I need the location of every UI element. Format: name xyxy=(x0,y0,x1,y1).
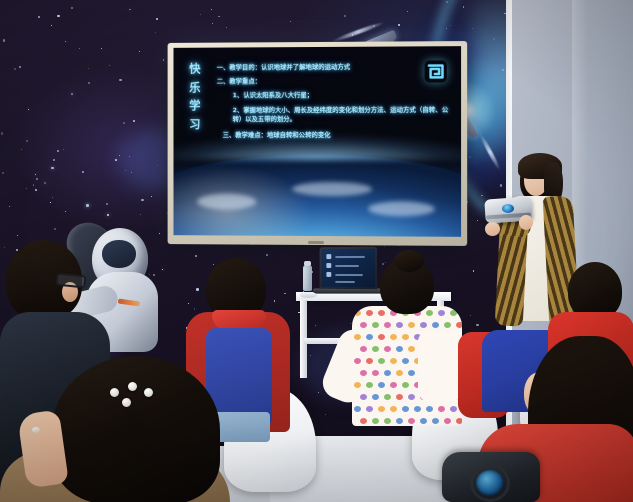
star xyxy=(54,228,56,230)
vertical-title-char-2: 学 xyxy=(189,100,200,111)
star xyxy=(382,263,384,265)
pearl-hairclip-3 xyxy=(144,388,153,397)
fabric-motif xyxy=(402,334,409,340)
girl-hair-bun xyxy=(394,250,424,272)
star xyxy=(71,7,72,8)
star xyxy=(218,16,219,17)
star xyxy=(212,23,213,24)
wall-display[interactable]: 快 乐 学 习 一、教学目的：认识地球并了解地球的运动方式 二、教学重点： 1、… xyxy=(168,41,468,246)
fabric-motif xyxy=(396,346,403,352)
star xyxy=(149,274,150,275)
star xyxy=(477,220,478,221)
star xyxy=(470,315,471,316)
vertical-title-char-3: 习 xyxy=(189,119,200,130)
fabric-motif xyxy=(372,322,379,328)
star xyxy=(9,206,10,207)
fabric-motif xyxy=(450,310,457,316)
star xyxy=(139,51,140,52)
fabric-motif xyxy=(378,358,385,364)
star xyxy=(159,233,160,234)
fabric-motif xyxy=(384,322,391,328)
star xyxy=(51,25,52,26)
fabric-motif xyxy=(354,382,361,388)
star xyxy=(196,288,198,290)
laptop-desktop-label-4 xyxy=(335,281,355,283)
computer-mouse[interactable] xyxy=(300,292,317,298)
fabric-motif xyxy=(378,382,385,388)
pearl-hairclip-1 xyxy=(110,388,119,397)
fabric-motif xyxy=(420,322,427,328)
fabric-motif xyxy=(384,346,391,352)
child-pale-top xyxy=(418,330,462,402)
slide-cloud-2 xyxy=(292,182,372,196)
star xyxy=(36,178,38,180)
slide-line-0: 一、教学目的：认识地球并了解地球的运动方式 xyxy=(217,63,451,71)
star xyxy=(407,11,408,12)
star xyxy=(119,79,121,81)
star xyxy=(63,149,64,150)
star xyxy=(473,270,475,272)
laptop-desktop-label-2 xyxy=(335,265,359,267)
star xyxy=(140,214,142,216)
fabric-motif xyxy=(360,322,367,328)
star xyxy=(115,159,117,161)
star xyxy=(385,262,386,263)
star xyxy=(82,171,84,173)
fabric-motif xyxy=(384,370,391,376)
star xyxy=(344,15,346,17)
star xyxy=(71,93,73,95)
fabric-motif xyxy=(372,418,379,424)
fabric-motif xyxy=(354,310,361,316)
pearl-hairclip-2 xyxy=(128,382,137,391)
star xyxy=(44,182,46,184)
star xyxy=(65,211,66,212)
fabric-motif xyxy=(444,322,451,328)
fabric-motif xyxy=(384,418,391,424)
fabric-motif xyxy=(366,406,373,412)
boy-trousers xyxy=(212,412,270,442)
star xyxy=(1,132,3,134)
fabric-motif xyxy=(396,322,403,328)
fabric-motif xyxy=(408,322,415,328)
star xyxy=(51,167,53,169)
star xyxy=(35,174,36,175)
fabric-motif xyxy=(360,394,367,400)
star xyxy=(57,150,59,152)
fabric-motif xyxy=(372,346,379,352)
fabric-motif xyxy=(390,382,397,388)
fabric-motif xyxy=(378,310,385,316)
fabric-motif xyxy=(366,334,373,340)
boy-neckerchief xyxy=(212,310,266,330)
star xyxy=(86,204,88,206)
fabric-motif xyxy=(360,346,367,352)
display-screen[interactable]: 快 乐 学 习 一、教学目的：认识地球并了解地球的运动方式 二、教学重点： 1、… xyxy=(173,46,461,237)
star xyxy=(2,172,4,174)
star xyxy=(156,18,158,20)
fabric-motif xyxy=(372,370,379,376)
star xyxy=(101,48,102,49)
fabric-motif xyxy=(456,418,462,424)
fabric-motif xyxy=(408,370,415,376)
fabric-motif xyxy=(456,322,462,328)
fabric-motif xyxy=(396,370,403,376)
star xyxy=(162,269,163,270)
star xyxy=(109,65,111,67)
fabric-motif xyxy=(378,334,385,340)
spiral-swirl-logo-icon xyxy=(425,60,447,82)
star xyxy=(88,82,90,84)
star xyxy=(384,246,385,247)
star xyxy=(21,149,22,150)
star xyxy=(106,203,108,205)
fabric-motif xyxy=(426,310,433,316)
fabric-motif xyxy=(414,406,421,412)
star xyxy=(151,196,152,197)
pearl-hairclip-4 xyxy=(122,398,131,407)
vertical-title-char-1: 乐 xyxy=(189,82,200,93)
fabric-motif xyxy=(360,418,367,424)
display-brand-chin xyxy=(308,241,324,244)
laptop-desktop-icon-2 xyxy=(326,263,331,268)
star xyxy=(17,235,18,236)
desk-projector-lens xyxy=(476,470,504,496)
fabric-motif xyxy=(360,370,367,376)
fabric-motif xyxy=(450,406,457,412)
star xyxy=(88,68,89,69)
fabric-motif xyxy=(354,358,361,364)
star xyxy=(211,9,212,10)
star xyxy=(195,255,197,257)
star xyxy=(3,39,5,41)
star xyxy=(155,32,157,34)
slide-line-4: 三、教学难点：地球自转和公转的变化 xyxy=(223,132,451,139)
fabric-motif xyxy=(444,418,451,424)
star xyxy=(194,308,195,309)
star xyxy=(274,300,276,302)
star xyxy=(19,66,21,68)
fabric-motif xyxy=(420,418,427,424)
photo-scene: 快 乐 学 习 一、教学目的：认识地球并了解地球的运动方式 二、教学重点： 1、… xyxy=(0,0,633,502)
star xyxy=(26,188,28,190)
star xyxy=(79,48,80,49)
star xyxy=(188,303,189,304)
laptop[interactable] xyxy=(320,247,377,289)
star xyxy=(325,414,326,415)
fabric-motif xyxy=(354,406,361,412)
slide-cloud-3 xyxy=(368,201,435,216)
star xyxy=(53,159,55,161)
star xyxy=(141,199,143,201)
star xyxy=(4,247,5,248)
laptop-desktop-icon-3 xyxy=(326,272,331,277)
slide-cloud-1 xyxy=(197,194,256,210)
fabric-motif xyxy=(354,334,361,340)
star xyxy=(163,59,165,61)
star xyxy=(133,120,135,122)
fabric-motif xyxy=(408,394,415,400)
fabric-motif xyxy=(390,406,397,412)
fabric-motif xyxy=(366,358,373,364)
fabric-motif xyxy=(402,358,409,364)
laptop-desktop-label-1 xyxy=(335,256,365,258)
star xyxy=(123,122,125,124)
astronaut-visor-mural xyxy=(102,240,136,268)
star xyxy=(35,189,37,191)
fabric-motif xyxy=(432,418,439,424)
foreground-woman-hair xyxy=(52,356,220,502)
finger-ring xyxy=(32,427,40,433)
fabric-motif xyxy=(390,358,397,364)
star xyxy=(315,325,316,326)
star xyxy=(200,14,201,15)
fabric-motif xyxy=(408,346,415,352)
slide-body-text: 一、教学目的：认识地球并了解地球的运动方式 二、教学重点： 1、认识太阳系及八大… xyxy=(217,63,451,145)
star xyxy=(57,15,59,17)
laptop-screen[interactable] xyxy=(322,249,375,287)
slide-vertical-title: 快 乐 学 习 xyxy=(189,64,200,131)
star xyxy=(153,274,155,276)
laptop-desktop-icon-1 xyxy=(326,254,331,259)
star xyxy=(28,109,29,110)
star xyxy=(399,24,400,25)
fabric-motif xyxy=(366,382,373,388)
star xyxy=(476,324,478,326)
vertical-title-char-0: 快 xyxy=(189,64,200,75)
star xyxy=(213,264,214,265)
fabric-motif xyxy=(372,394,379,400)
star xyxy=(107,214,109,216)
star xyxy=(129,9,131,11)
star xyxy=(290,21,291,22)
presenter-hand-right xyxy=(519,215,533,230)
fabric-motif xyxy=(390,334,397,340)
fabric-motif xyxy=(402,406,409,412)
slide-line-1: 二、教学重点： xyxy=(217,78,451,86)
star-projector-lens xyxy=(502,204,514,213)
fabric-motif xyxy=(378,406,385,412)
fabric-motif xyxy=(396,394,403,400)
star xyxy=(14,68,16,70)
water-bottle xyxy=(303,265,312,291)
fabric-motif xyxy=(366,310,373,316)
star xyxy=(50,202,51,203)
fabric-motif xyxy=(402,382,409,388)
star xyxy=(65,41,66,42)
fabric-motif xyxy=(438,310,445,316)
fabric-motif xyxy=(438,406,445,412)
slide-line-2: 1、认识太阳系及八大行星； xyxy=(233,92,451,100)
star xyxy=(266,254,268,256)
star xyxy=(38,16,40,18)
star xyxy=(52,197,53,198)
star xyxy=(226,27,227,28)
fabric-motif xyxy=(396,418,403,424)
fabric-motif xyxy=(408,418,415,424)
slide-line-3: 2、掌握地球的大小、周长及经纬度的变化和划分方法、运动方式（自转、公转）以及五带… xyxy=(233,105,451,125)
star xyxy=(284,293,285,294)
star xyxy=(33,185,34,186)
laptop-desktop-label-3 xyxy=(335,274,363,276)
star xyxy=(26,140,28,142)
presenter-hand-left xyxy=(485,222,500,236)
fabric-motif xyxy=(426,406,433,412)
fabric-motif xyxy=(384,394,391,400)
fabric-motif xyxy=(432,322,439,328)
